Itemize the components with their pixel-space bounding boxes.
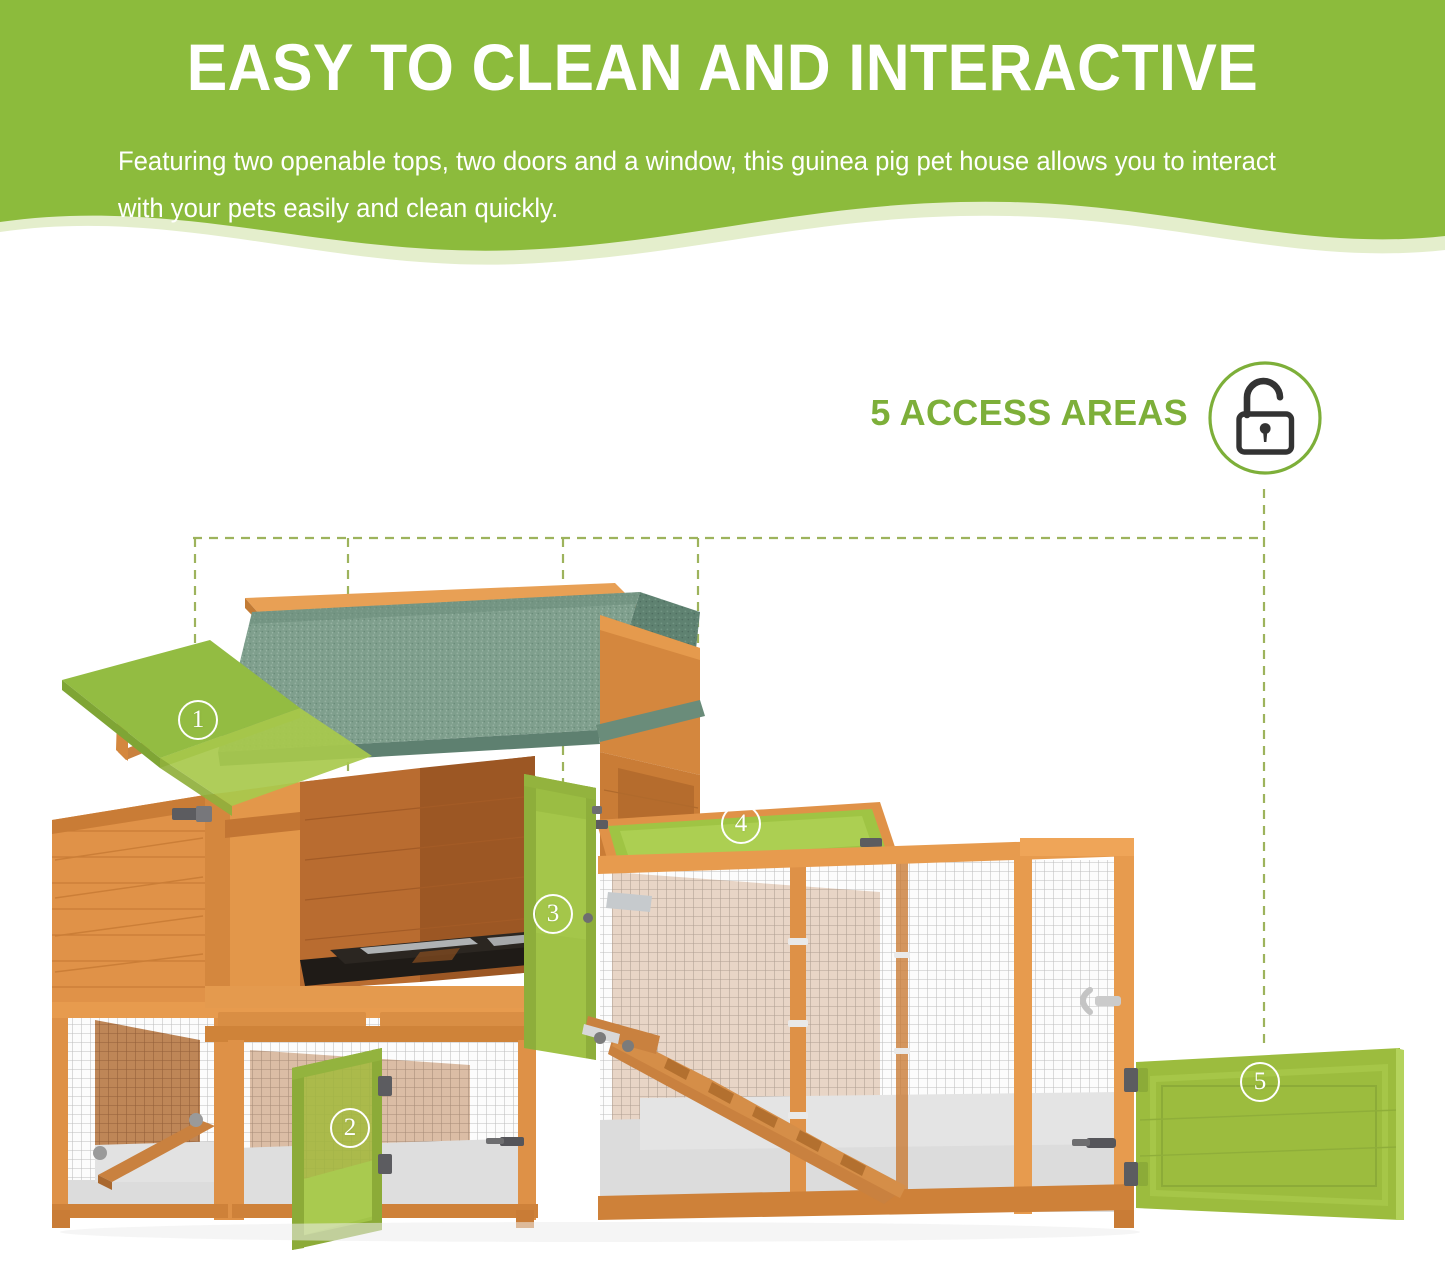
access-areas-label: 5 ACCESS AREAS xyxy=(820,392,1188,434)
product-illustration xyxy=(0,520,1445,1274)
feature-badge-3: 3 xyxy=(533,894,573,934)
open-padlock-icon xyxy=(1206,359,1324,477)
hutch-drawing xyxy=(0,520,1445,1274)
feature-badge-4: 4 xyxy=(721,804,761,844)
feature-badge-1: 1 xyxy=(178,700,218,740)
page-subtitle: Featuring two openable tops, two doors a… xyxy=(118,138,1287,232)
run-enclosure xyxy=(582,838,1134,1220)
access-areas-callout: 5 ACCESS AREAS xyxy=(820,372,1340,492)
feature-2-lower-run-door xyxy=(292,1048,392,1250)
header-banner: EASY TO CLEAN AND INTERACTIVE Featuring … xyxy=(0,0,1445,285)
feature-badge-2: 2 xyxy=(330,1108,370,1148)
feature-badge-5: 5 xyxy=(1240,1062,1280,1102)
page-title: EASY TO CLEAN AND INTERACTIVE xyxy=(58,32,1387,102)
